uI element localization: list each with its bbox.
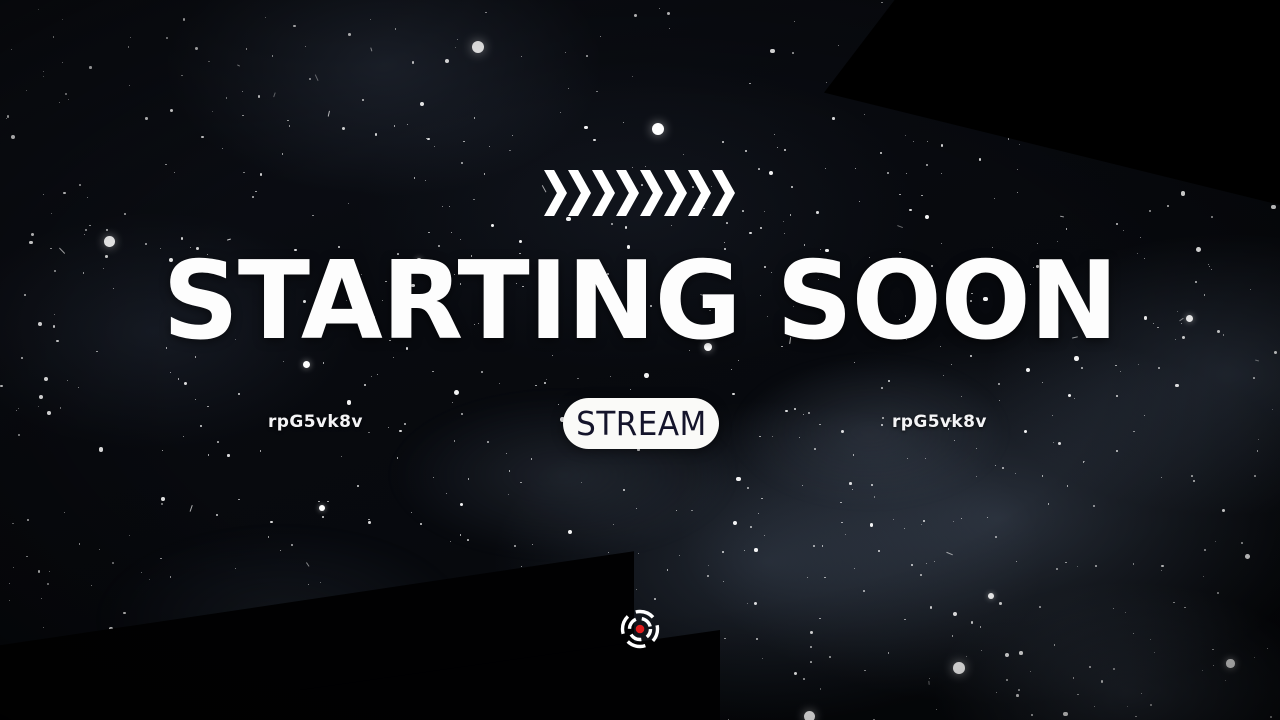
chevron-right-icon — [688, 170, 711, 216]
right-handle-label: rpG5vk8v — [892, 412, 987, 432]
chevron-right-icon — [592, 170, 615, 216]
chevron-right-icon — [664, 170, 687, 216]
chevron-right-icon — [640, 170, 663, 216]
chevron-right-icon — [568, 170, 591, 216]
chevrons-right-icon — [0, 168, 1280, 218]
page-title: STARTING SOON — [13, 248, 1267, 356]
chevron-right-icon — [544, 170, 567, 216]
starting-soon-screen: STARTING SOON rpG5vk8v STREAM rpG5vk8v — [0, 0, 1280, 720]
chevron-right-icon — [712, 170, 735, 216]
left-handle-label: rpG5vk8v — [268, 412, 363, 432]
subtitle-row: rpG5vk8v STREAM rpG5vk8v — [0, 398, 1280, 450]
chevron-right-icon — [616, 170, 639, 216]
overlay-content: STARTING SOON rpG5vk8v STREAM rpG5vk8v — [0, 0, 1280, 720]
stream-badge: STREAM — [563, 398, 719, 449]
stream-badge-label: STREAM — [576, 407, 707, 440]
record-target-icon — [619, 608, 661, 650]
